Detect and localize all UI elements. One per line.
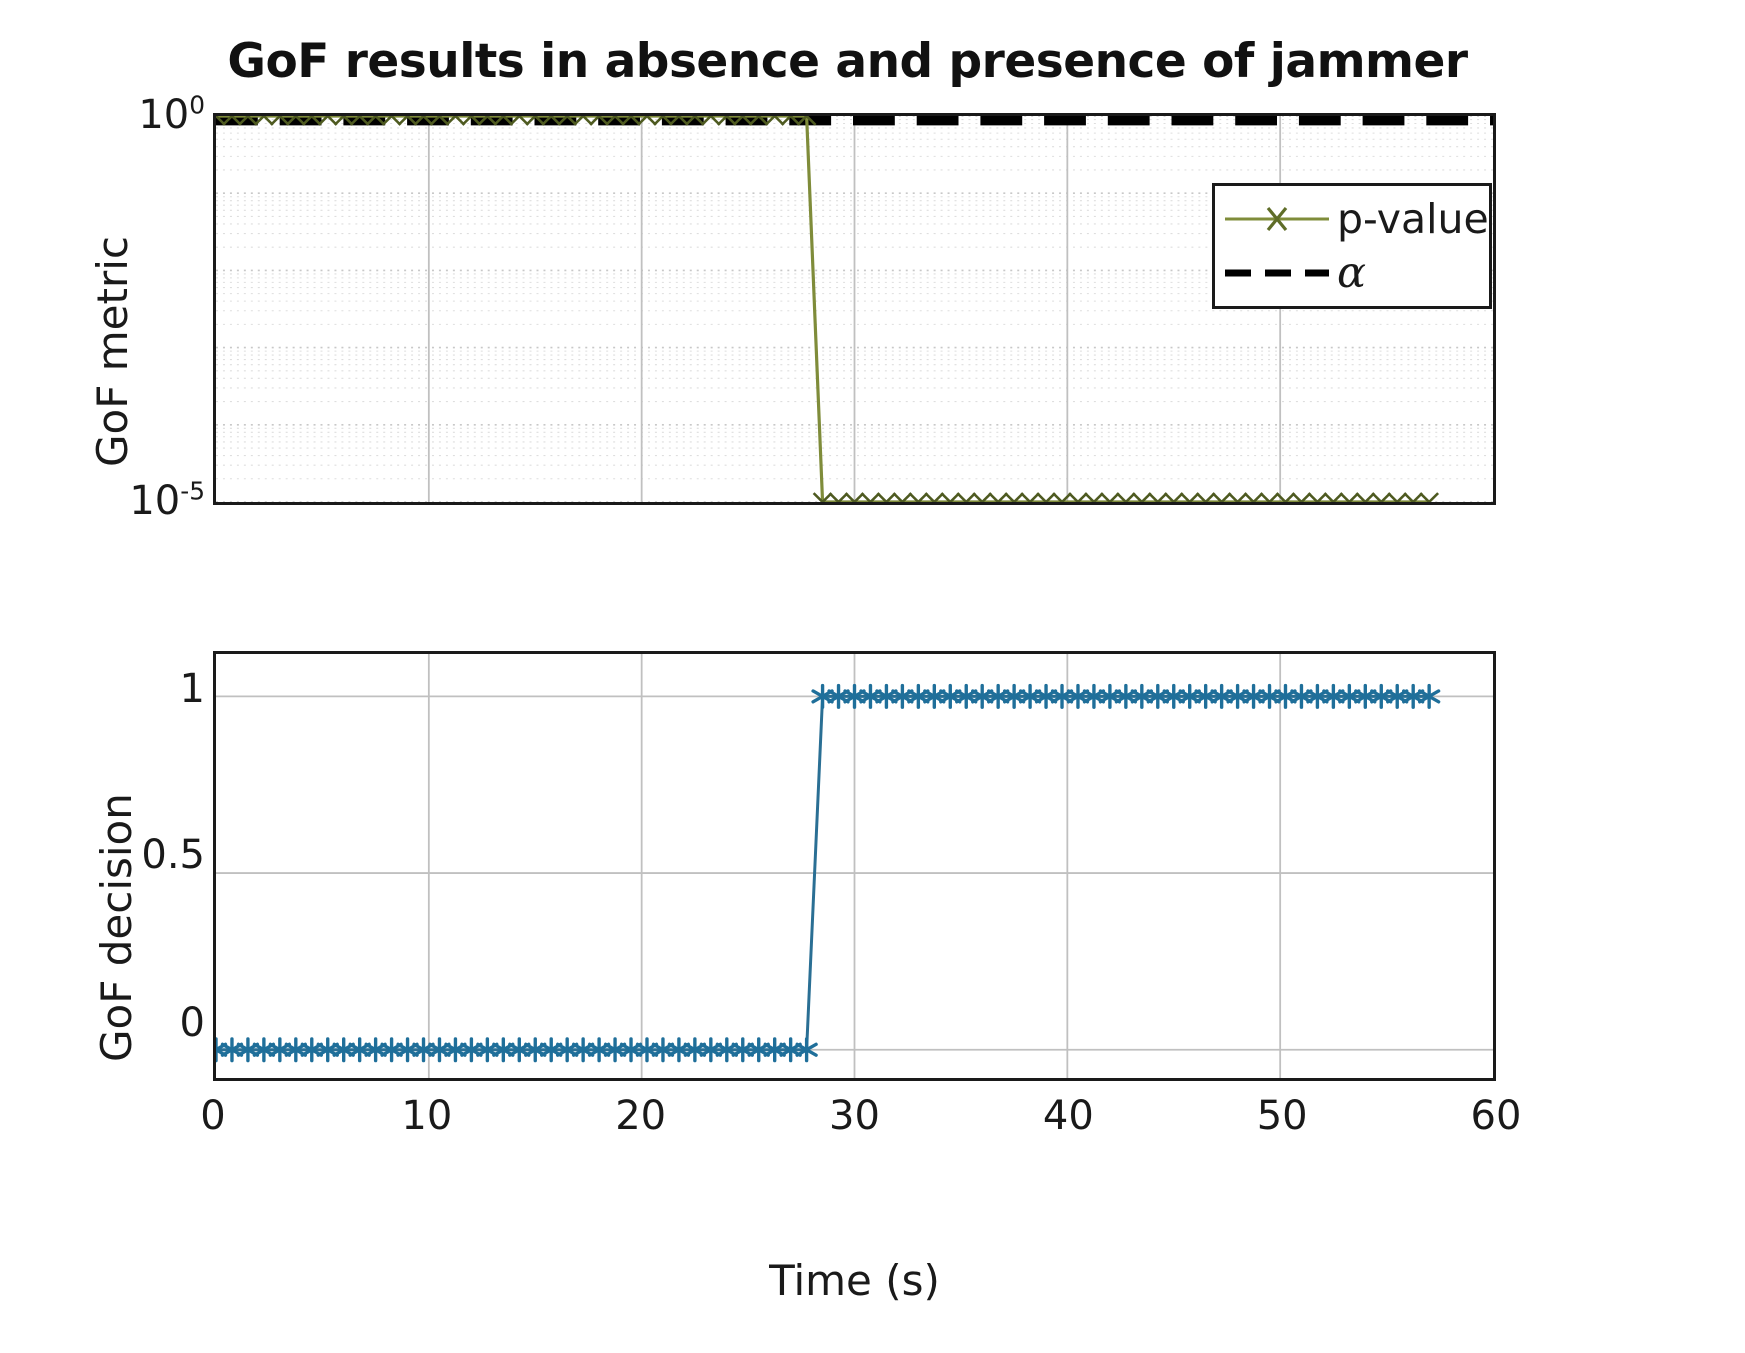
legend-label-alpha: α bbox=[1337, 248, 1366, 298]
xtick-label-40: 40 bbox=[1013, 1093, 1123, 1139]
legend[interactable]: p-value α bbox=[1212, 183, 1492, 309]
gof-decision-series-layer bbox=[216, 654, 1493, 1078]
legend-entry-p-value[interactable]: p-value bbox=[1215, 194, 1489, 244]
ytick-label-bottom-1: 1 bbox=[85, 666, 205, 712]
x-axis-label-time: Time (s) bbox=[213, 1256, 1496, 1305]
gof-decision-axes bbox=[213, 651, 1496, 1081]
ytick-label-top-1e0: 100 bbox=[85, 92, 205, 138]
ytick-exponent: -5 bbox=[180, 477, 205, 506]
grid-vertical-top bbox=[429, 116, 1280, 502]
gof-metric-series-layer bbox=[216, 116, 1493, 502]
gof-metric-axes bbox=[213, 113, 1496, 505]
figure-canvas: GoF results in absence and presence of j… bbox=[0, 0, 1745, 1353]
p-value-markers bbox=[216, 116, 1438, 502]
gof-decision-plot-area bbox=[216, 654, 1493, 1078]
page-title: GoF results in absence and presence of j… bbox=[205, 34, 1490, 89]
legend-label-p-value: p-value bbox=[1337, 195, 1489, 243]
ytick-exponent: 0 bbox=[189, 91, 205, 120]
xtick-label-20: 20 bbox=[586, 1093, 696, 1139]
legend-sample-alpha-icon bbox=[1223, 253, 1331, 293]
y-axis-label-gof-metric: GoF metric bbox=[88, 236, 137, 467]
y-axis-label-gof-decision: GoF decision bbox=[92, 793, 141, 1062]
ytick-mantissa: 10 bbox=[129, 478, 180, 524]
ytick-label-top-1e-5: 10-5 bbox=[85, 478, 205, 524]
p-value-series bbox=[216, 116, 1438, 502]
xtick-label-0: 0 bbox=[158, 1093, 268, 1139]
grid-vertical-bottom bbox=[429, 654, 1280, 1078]
xtick-label-50: 50 bbox=[1227, 1093, 1337, 1139]
legend-sample-p-value-icon bbox=[1223, 199, 1331, 239]
ytick-mantissa: 10 bbox=[138, 92, 189, 138]
legend-entry-alpha[interactable]: α bbox=[1215, 248, 1489, 298]
xtick-label-30: 30 bbox=[800, 1093, 910, 1139]
gof-metric-plot-area bbox=[216, 116, 1493, 502]
p-value-line bbox=[216, 116, 1429, 502]
xtick-label-60: 60 bbox=[1441, 1093, 1551, 1139]
xtick-label-10: 10 bbox=[372, 1093, 482, 1139]
